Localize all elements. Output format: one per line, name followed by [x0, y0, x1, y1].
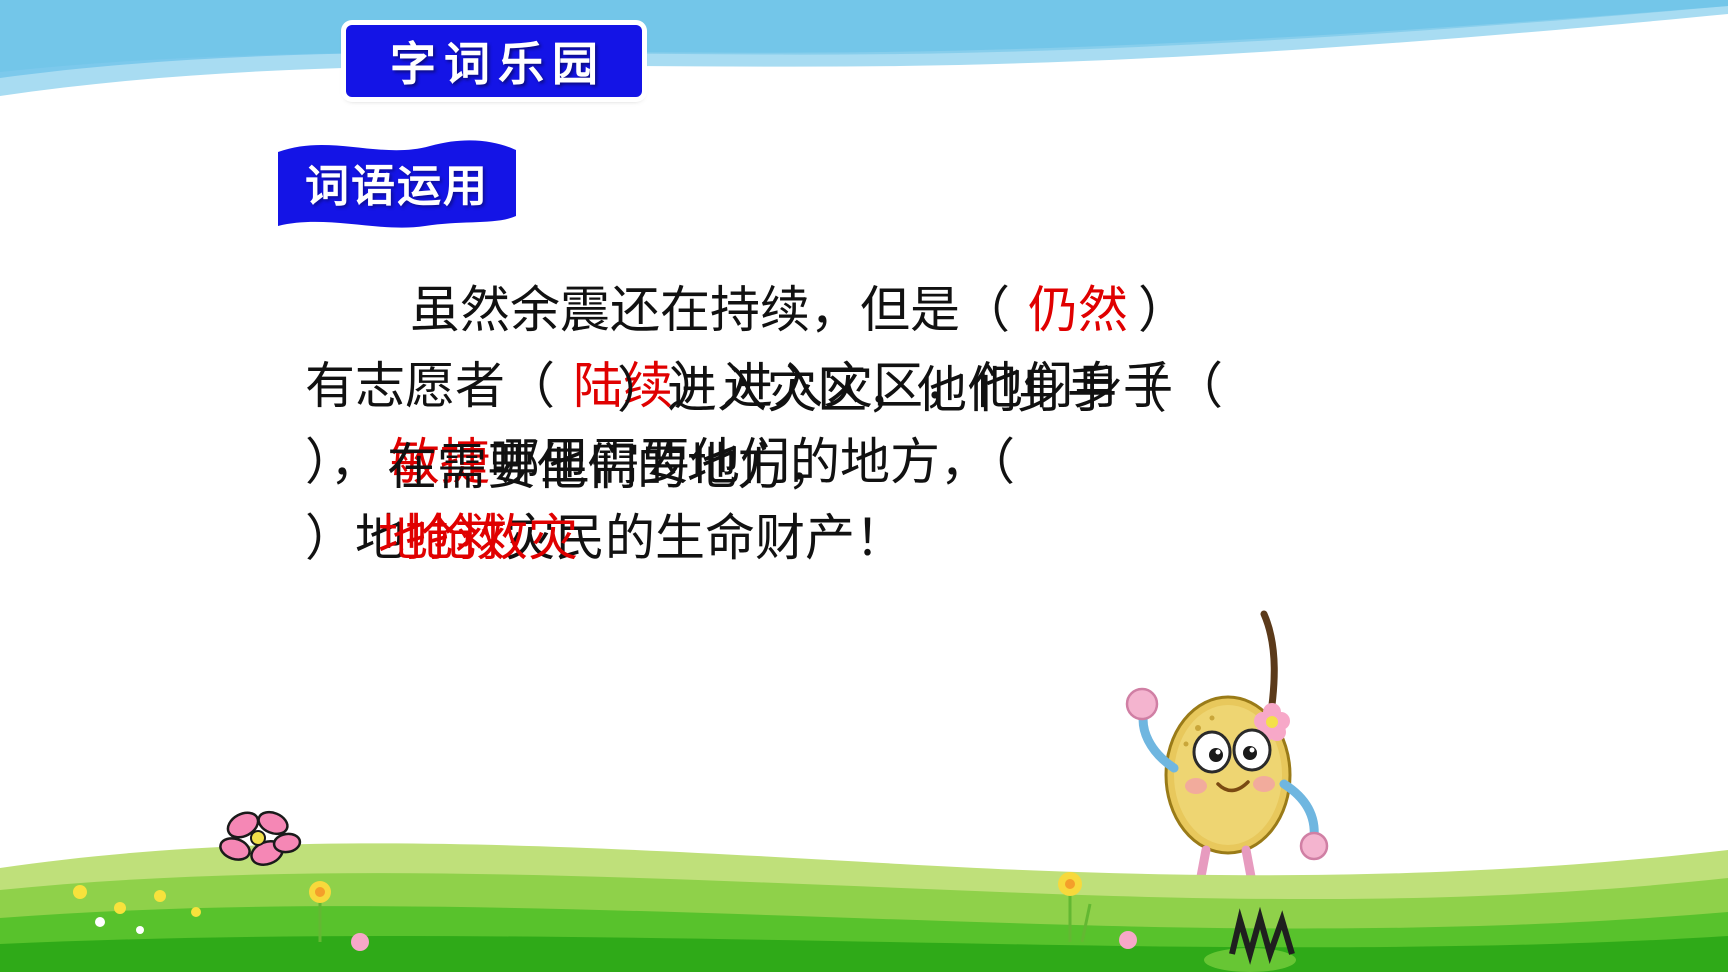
- line2-seg1: 有志愿者（: [305, 357, 555, 415]
- overlay-fragment-1: ）进入灾区，他们身手（: [617, 365, 1167, 415]
- line3-seg1: ），: [305, 433, 380, 491]
- section-ribbon: 词语运用: [268, 124, 526, 234]
- section-ribbon-label: 词语运用: [268, 124, 526, 234]
- line1-seg1: 虽然余震还在持续，但是（: [410, 281, 1010, 339]
- overlay-fragment-2: 在需要他们的地方，: [387, 442, 837, 492]
- exercise-line-1: 虽然余震还在持续，但是（仍然）: [410, 272, 1188, 348]
- title-banner: 字词乐园: [346, 25, 642, 97]
- slide-canvas: 字词乐园 词语运用 虽然余震还在持续，但是（仍然） 有志愿者（陆续）进入灾区，他…: [0, 0, 1728, 972]
- flower-pink-large-icon: [215, 805, 305, 875]
- title-banner-label: 字词乐园: [382, 28, 606, 94]
- overlay-fragment-3: 地抢救灾: [378, 513, 578, 563]
- line1-answer: 仍然: [1028, 281, 1128, 339]
- sky-band-decoration: [0, 0, 1728, 120]
- line1-seg3: ）: [1138, 281, 1188, 339]
